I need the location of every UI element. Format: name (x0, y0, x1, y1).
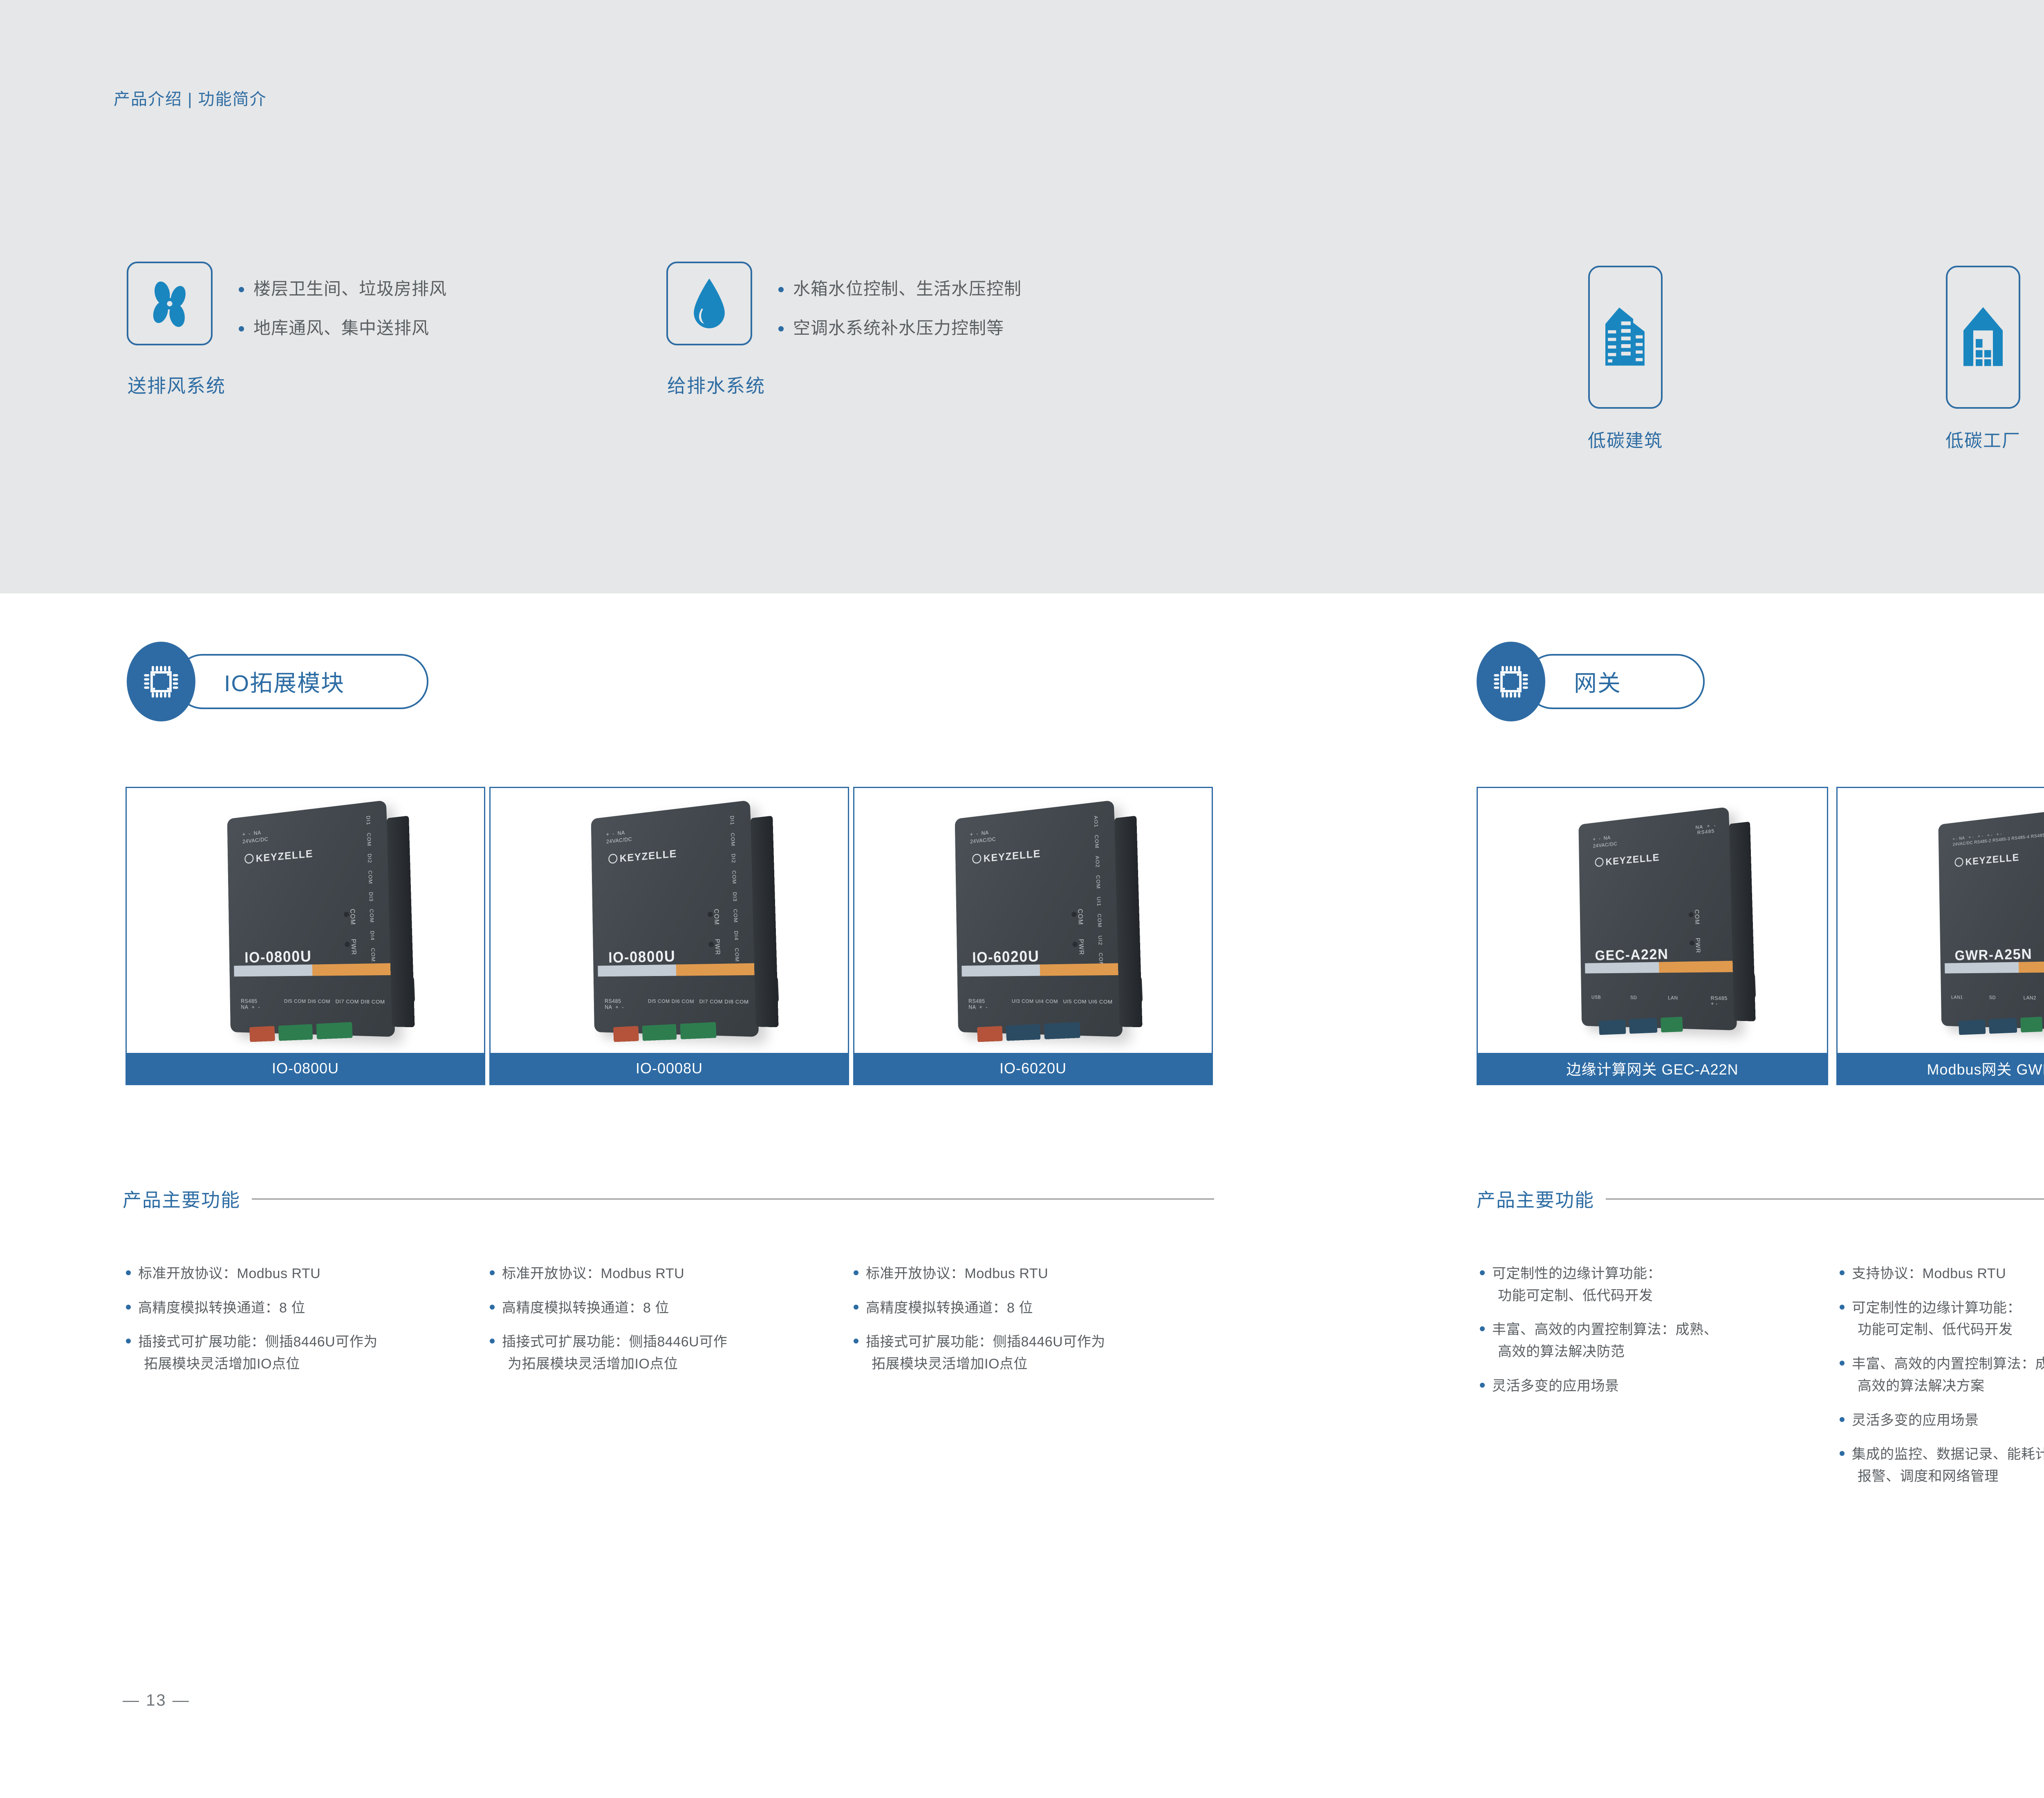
list-item: 支持协议：Modbus RTU (1836, 1263, 2044, 1285)
scenario-water-caption: 给排水系统 (667, 371, 765, 398)
office-building-icon-box (1588, 266, 1663, 409)
product-card[interactable]: + - NA + - + - + - + -24VAC/DC RS485-2 R… (1836, 787, 2044, 1085)
functions-title: 产品主要功能 (123, 1185, 240, 1212)
product-label: Modbus网关 GWR-A25N (1838, 1053, 2044, 1084)
office-building-icon (1600, 302, 1651, 372)
device-brand: KEYZELLE (608, 848, 677, 866)
function-column: 支持协议：Modbus RTU 可定制性的边缘计算功能： 功能可定制、低代码开发… (1836, 1263, 2044, 1500)
product-label: IO-6020U (854, 1053, 1212, 1084)
water-drop-icon (685, 275, 734, 332)
list-item: 插接式可扩展功能：侧插8446U可作为 拓展模块灵活增加IO点位 (123, 1331, 482, 1375)
list-item: 高精度模拟转换通道：8 位 (123, 1297, 482, 1319)
product-label: IO-0800U (127, 1053, 484, 1084)
device-leds: COMPWR (708, 909, 722, 955)
list-item: 可定制性的边缘计算功能： 功能可定制、低代码开发 (1477, 1263, 1820, 1307)
section-badge-pill-io: IO拓展模块 (175, 654, 428, 709)
list-item: 地库通风、集中送排风 (236, 320, 447, 337)
device-bottom-text: RS485NA + - UI3 COM UI4 COM UI5 COM UI6 … (968, 999, 1113, 1012)
function-column: 可定制性的边缘计算功能： 功能可定制、低代码开发 丰富、高效的内置控制算法：成熟… (1477, 1263, 1820, 1410)
device-bottom-text: USBSDLANRS485+ - (1591, 995, 1728, 1007)
scenario-ventilation-caption: 送排风系统 (128, 371, 226, 398)
device-top-text: + - NA + - + - + - + -24VAC/DC RS485-2 R… (1952, 822, 2044, 847)
product-photo: + - NA + - + - + - + -24VAC/DC RS485-2 R… (1838, 788, 2044, 1053)
list-item: 楼层卫生间、垃圾房排风 (236, 280, 447, 298)
device-top-pins: DI1COMDI2COM DI3COMDI4COM (719, 815, 740, 963)
page-number-left: — 13 — (123, 1691, 190, 1710)
product-label: 边缘计算网关 GEC-A22N (1478, 1053, 1827, 1084)
heading-rule (1606, 1198, 2044, 1200)
product-photo: + - NA24VAC/DC AO1COMAO2COM UI1COMUI2COM… (854, 788, 1212, 1053)
chip-icon (1492, 663, 1530, 701)
function-column: 标准开放协议：Modbus RTU 高精度模拟转换通道：8 位 插接式可扩展功能… (486, 1263, 846, 1388)
scenario-ventilation-bullets: 楼层卫生间、垃圾房排风 地库通风、集中送排风 (236, 280, 447, 359)
device-model: GEC-A22N (1595, 946, 1669, 964)
device-bottom-text: LAN1SDLAN2RS485-1+ - (1951, 995, 2044, 1007)
section-badge-io-modules: IO拓展模块 (127, 642, 429, 721)
device-illustration: + - NA24VAC/DC DI1COMDI2COM DI3COMDI4COM… (585, 808, 754, 1033)
factory-icon (1959, 302, 2008, 372)
device-top-pins: AO1COMAO2COM UI1COMUI2COM (1083, 815, 1104, 967)
device-brand: KEYZELLE (972, 848, 1041, 866)
list-item: 水箱水位控制、生活水压控制 (776, 280, 1022, 298)
scenario-water-bullets: 水箱水位控制、生活水压控制 空调水系统补水压力控制等 (776, 280, 1022, 359)
device-model: IO-0800U (608, 948, 676, 967)
section-badge-pill-gateway: 网关 (1525, 654, 1705, 709)
product-label: IO-0008U (491, 1053, 848, 1084)
section-badge-gateway: 网关 (1477, 642, 1722, 721)
device-brand: KEYZELLE (1954, 852, 2019, 869)
device-illustration: + - NA24VAC/DC NA + -RS485 KEYZELLE COMP… (1573, 814, 1732, 1026)
product-photo: + - NA24VAC/DC NA + -RS485 KEYZELLE COMP… (1478, 788, 1827, 1053)
device-leds: COMPWR (1071, 909, 1085, 955)
brochure-spread: 产品介绍 | 功能简介 产品介绍 | 功能简介 楼层卫生间、垃圾房排风 地库通风… (0, 0, 2044, 1798)
device-brand: KEYZELLE (1595, 852, 1660, 869)
device-leds: COMPWR (344, 909, 358, 955)
list-item: 集成的监控、数据记录、能耗计量、 报警、调度和网络管理 (1836, 1444, 2044, 1487)
device-leds: COMPWR (1688, 909, 1701, 954)
fan-icon (143, 277, 196, 330)
product-photo: + - NA24VAC/DC DI1COMDI2COM DI3COMDI4COM… (127, 788, 484, 1053)
device-illustration: + - NA24VAC/DC AO1COMAO2COM UI1COMUI2COM… (949, 808, 1118, 1033)
list-item: 丰富、高效的内置控制算法：成熟、 高效的算法解决防范 (1477, 1319, 1820, 1363)
device-illustration: + - NA + - + - + - + -24VAC/DC RS485-2 R… (1932, 814, 2044, 1026)
list-item: 标准开放协议：Modbus RTU (486, 1263, 846, 1285)
chip-icon-circle (1477, 642, 1545, 721)
factory-icon-box (1946, 266, 2020, 409)
app-card-caption: 低碳建筑 (1588, 426, 1663, 452)
device-model: GWR-A25N (1954, 946, 2033, 964)
chip-icon-circle (127, 642, 195, 721)
list-item: 灵活多变的应用场景 (1477, 1375, 1820, 1397)
list-item: 标准开放协议：Modbus RTU (850, 1263, 1214, 1285)
list-item: 可定制性的边缘计算功能： 功能可定制、低代码开发 (1836, 1297, 2044, 1341)
functions-title: 产品主要功能 (1477, 1185, 1594, 1212)
device-bottom-text: RS485NA + - DI5 COM DI6 COM DI7 COM DI8 … (241, 999, 385, 1012)
section-badge-label: IO拓展模块 (224, 665, 345, 698)
product-card[interactable]: + - NA24VAC/DC AO1COMAO2COM UI1COMUI2COM… (853, 787, 1213, 1085)
app-card-low-carbon-building: 低碳建筑 (1588, 266, 1663, 409)
product-photo: + - NA24VAC/DC DI1COMDI2COM DI3COMDI4COM… (491, 788, 848, 1053)
water-drop-icon-box (666, 262, 752, 345)
device-illustration: + - NA24VAC/DC DI1COMDI2COM DI3COMDI4COM… (221, 808, 390, 1033)
app-card-low-carbon-factory: 低碳工厂 (1946, 266, 2020, 409)
list-item: 高精度模拟转换通道：8 位 (486, 1297, 846, 1319)
product-card[interactable]: + - NA24VAC/DC NA + -RS485 KEYZELLE COMP… (1477, 787, 1828, 1085)
device-model: IO-0800U (244, 948, 312, 967)
list-item: 插接式可扩展功能：侧插8446U可作为 拓展模块灵活增加IO点位 (850, 1331, 1214, 1375)
list-item: 丰富、高效的内置控制算法：成熟、 高效的算法解决方案 (1836, 1353, 2044, 1397)
functions-heading-right: 产品主要功能 (1477, 1185, 2044, 1212)
header-left: 产品介绍 | 功能简介 (114, 86, 267, 110)
chip-icon (142, 663, 180, 701)
product-card[interactable]: + - NA24VAC/DC DI1COMDI2COM DI3COMDI4COM… (126, 787, 485, 1085)
list-item: 高精度模拟转换通道：8 位 (850, 1297, 1214, 1319)
fan-icon-box (127, 262, 213, 345)
product-card[interactable]: + - NA24VAC/DC DI1COMDI2COM DI3COMDI4COM… (489, 787, 849, 1085)
section-badge-label: 网关 (1574, 665, 1621, 698)
device-top-pins: NA + -RS485 (1695, 823, 1717, 836)
list-item: 插接式可扩展功能：侧插8446U可作 为拓展模块灵活增加IO点位 (486, 1331, 846, 1375)
functions-heading-left: 产品主要功能 (123, 1185, 1214, 1212)
function-column: 标准开放协议：Modbus RTU 高精度模拟转换通道：8 位 插接式可扩展功能… (850, 1263, 1214, 1388)
list-item: 灵活多变的应用场景 (1836, 1410, 2044, 1432)
function-column: 标准开放协议：Modbus RTU 高精度模拟转换通道：8 位 插接式可扩展功能… (123, 1263, 482, 1388)
device-brand: KEYZELLE (244, 848, 313, 866)
heading-rule (252, 1198, 1214, 1200)
device-bottom-text: RS485NA + - DI5 COM DI6 COM DI7 COM DI8 … (605, 999, 749, 1012)
device-top-pins: DI1COMDI2COM DI3COMDI4COM (356, 815, 376, 963)
list-item: 空调水系统补水压力控制等 (776, 320, 1022, 337)
list-item: 标准开放协议：Modbus RTU (123, 1263, 482, 1285)
app-card-caption: 低碳工厂 (1945, 426, 2021, 452)
device-model: IO-6020U (972, 948, 1040, 967)
